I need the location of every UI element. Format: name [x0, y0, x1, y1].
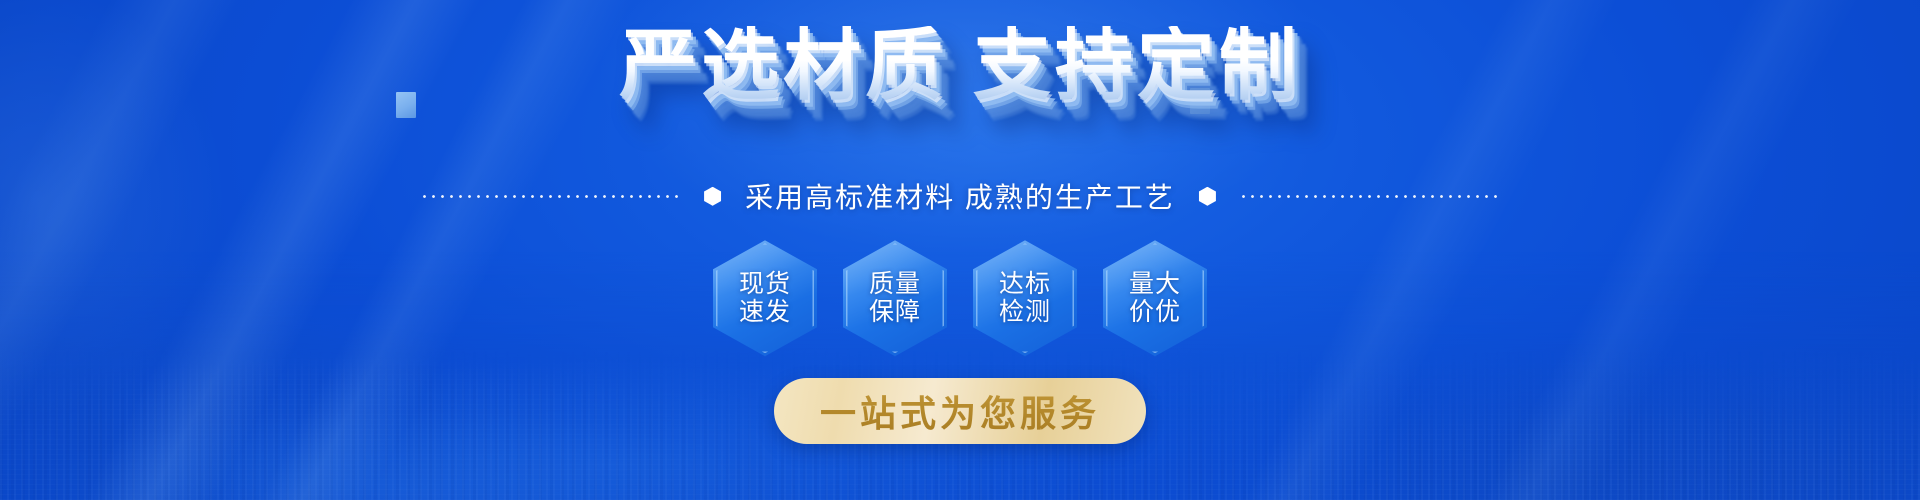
feature-badge-spot-delivery[interactable]: 现货 速发 [713, 240, 817, 356]
hexagon-marker-left [704, 187, 721, 206]
feature-badge-row: 现货 速发 质量 保障 达标 检测 量大 价优 [713, 240, 1207, 356]
dotted-divider-left [420, 195, 680, 198]
feature-badge-quality-guarantee[interactable]: 质量 保障 [843, 240, 947, 356]
feature-badge-label: 量大 价优 [1129, 270, 1181, 326]
feature-badge-label: 达标 检测 [999, 270, 1051, 326]
banner-content: 严选材质 支持定制 采用高标准材料 成熟的生产工艺 现货 速发 质量 保障 达标… [0, 0, 1920, 500]
one-stop-service-button[interactable]: 一站式为您服务 [774, 378, 1146, 444]
subtitle-row: 采用高标准材料 成熟的生产工艺 [0, 176, 1920, 216]
hexagon-marker-right [1199, 187, 1216, 206]
promo-banner: 严选材质 支持定制 采用高标准材料 成熟的生产工艺 现货 速发 质量 保障 达标… [0, 0, 1920, 500]
feature-badge-label: 质量 保障 [869, 270, 921, 326]
dotted-divider-right [1240, 195, 1500, 198]
banner-title: 严选材质 支持定制 [619, 26, 1301, 104]
feature-badge-standard-testing[interactable]: 达标 检测 [973, 240, 1077, 356]
banner-subtitle: 采用高标准材料 成熟的生产工艺 [745, 176, 1175, 216]
feature-badge-label: 现货 速发 [739, 270, 791, 326]
one-stop-service-label: 一站式为您服务 [820, 385, 1100, 437]
feature-badge-bulk-discount[interactable]: 量大 价优 [1103, 240, 1207, 356]
